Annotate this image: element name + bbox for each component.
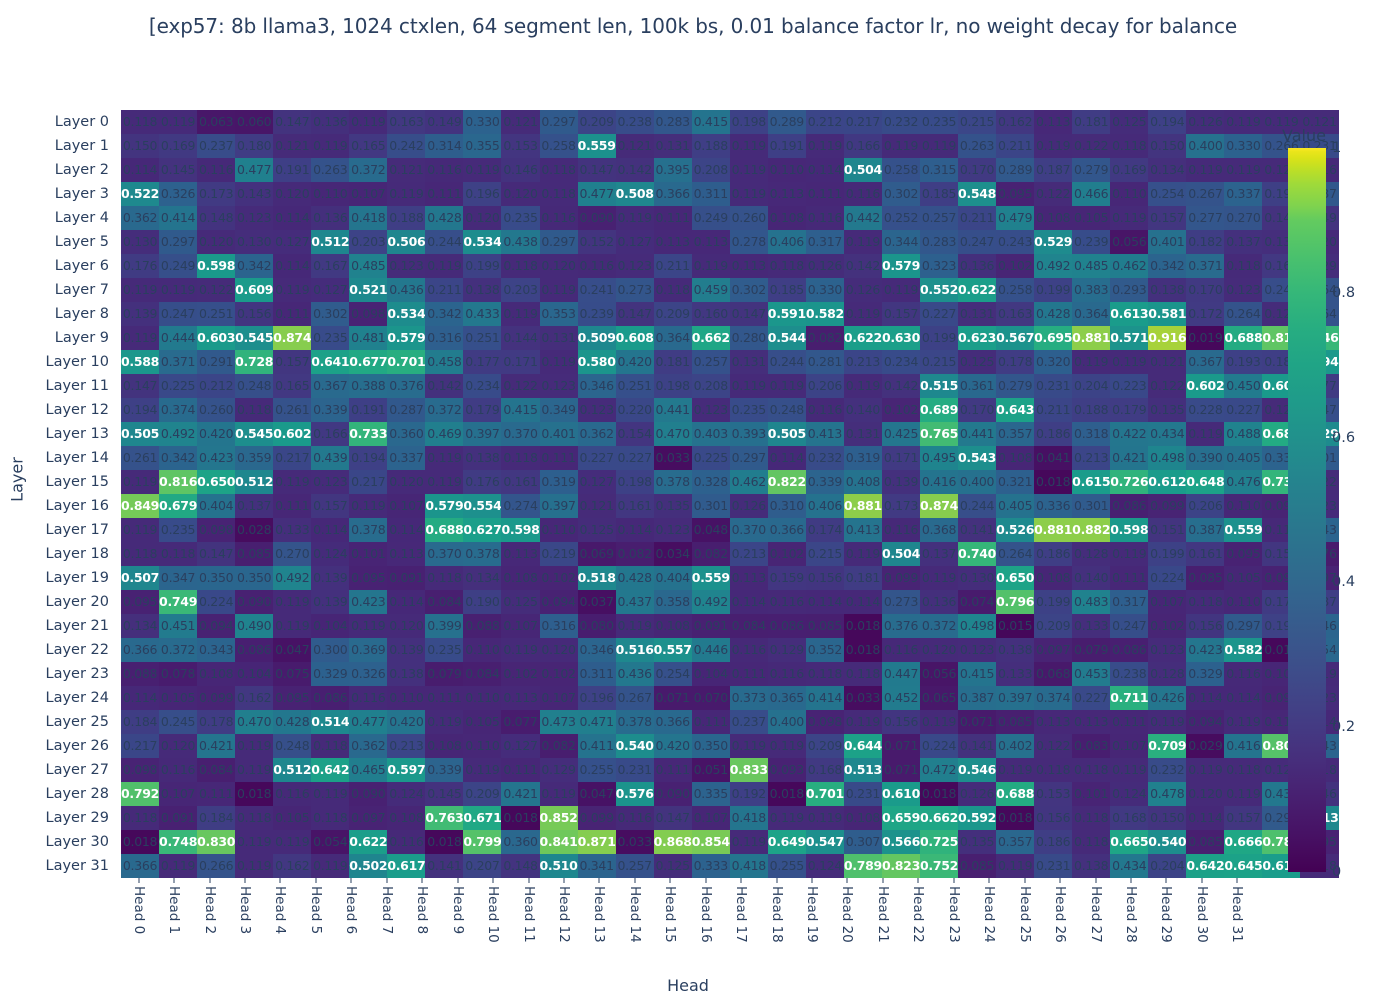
heatmap-cell[interactable]: 0.114	[1224, 686, 1262, 710]
heatmap-cell[interactable]: 0.173	[197, 182, 235, 206]
heatmap-cell[interactable]: 0.080	[578, 614, 616, 638]
heatmap-cell[interactable]: 0.689	[920, 398, 958, 422]
heatmap-cell[interactable]: 0.047	[273, 638, 311, 662]
heatmap-cell[interactable]: 0.111	[806, 182, 844, 206]
heatmap-cell[interactable]: 0.123	[958, 638, 996, 662]
heatmap-cell[interactable]: 0.034	[654, 542, 692, 566]
heatmap-cell[interactable]: 0.799	[463, 830, 501, 854]
heatmap-cell[interactable]: 0.161	[616, 494, 654, 518]
heatmap-cell[interactable]: 0.476	[1224, 470, 1262, 494]
heatmap-cell[interactable]: 0.213	[1072, 446, 1110, 470]
heatmap-cell[interactable]: 0.131	[654, 134, 692, 158]
heatmap-cell[interactable]: 0.188	[692, 134, 730, 158]
heatmap-cell[interactable]: 0.111	[692, 710, 730, 734]
heatmap-cell[interactable]: 0.485	[1072, 254, 1110, 278]
heatmap-cell[interactable]: 0.138	[463, 446, 501, 470]
heatmap-cell[interactable]: 0.378	[349, 518, 387, 542]
heatmap-cell[interactable]: 0.102	[501, 662, 539, 686]
heatmap-cell[interactable]: 0.752	[920, 854, 958, 878]
heatmap-cell[interactable]: 0.307	[844, 830, 882, 854]
heatmap-cell[interactable]: 0.126	[958, 782, 996, 806]
heatmap-cell[interactable]: 0.134	[463, 566, 501, 590]
heatmap-cell[interactable]: 0.215	[806, 542, 844, 566]
heatmap-cell[interactable]: 0.213	[387, 734, 425, 758]
heatmap-cell[interactable]: 0.277	[1186, 206, 1224, 230]
heatmap-cell[interactable]: 0.841	[540, 830, 578, 854]
heatmap-cell[interactable]: 0.166	[311, 422, 349, 446]
heatmap-cell[interactable]: 0.203	[501, 278, 539, 302]
heatmap-cell[interactable]: 0.119	[1224, 782, 1262, 806]
heatmap-cell[interactable]: 0.548	[958, 182, 996, 206]
heatmap-cell[interactable]: 0.270	[1224, 206, 1262, 230]
heatmap-cell[interactable]: 0.319	[540, 470, 578, 494]
heatmap-cell[interactable]: 0.123	[616, 254, 654, 278]
heatmap-cell[interactable]: 0.078	[159, 662, 197, 686]
heatmap-cell[interactable]: 0.018	[235, 782, 273, 806]
heatmap-cell[interactable]: 0.110	[1110, 182, 1148, 206]
heatmap-cell[interactable]: 0.341	[578, 854, 616, 878]
heatmap-cell[interactable]: 0.258	[882, 158, 920, 182]
heatmap-cell[interactable]: 0.695	[1034, 326, 1072, 350]
heatmap-cell[interactable]: 0.033	[654, 446, 692, 470]
heatmap-cell[interactable]: 0.116	[387, 830, 425, 854]
heatmap-cell[interactable]: 0.368	[920, 518, 958, 542]
heatmap-cell[interactable]: 0.114	[387, 590, 425, 614]
heatmap-cell[interactable]: 0.074	[958, 590, 996, 614]
heatmap-cell[interactable]: 0.028	[235, 518, 273, 542]
heatmap-cell[interactable]: 0.093	[768, 758, 806, 782]
heatmap-cell[interactable]: 0.630	[882, 326, 920, 350]
heatmap-cell[interactable]: 0.365	[768, 686, 806, 710]
heatmap-cell[interactable]: 0.364	[654, 326, 692, 350]
heatmap-cell[interactable]: 0.198	[730, 110, 768, 134]
heatmap-cell[interactable]: 0.110	[463, 686, 501, 710]
heatmap-cell[interactable]: 0.234	[463, 374, 501, 398]
heatmap-cell[interactable]: 0.559	[1224, 518, 1262, 542]
heatmap-cell[interactable]: 0.362	[578, 422, 616, 446]
heatmap-cell[interactable]: 0.387	[958, 686, 996, 710]
heatmap-cell[interactable]: 0.139	[387, 638, 425, 662]
heatmap-cell[interactable]: 0.191	[349, 398, 387, 422]
heatmap-cell[interactable]: 0.116	[882, 518, 920, 542]
heatmap-cell[interactable]: 0.119	[1186, 422, 1224, 446]
heatmap-cell[interactable]: 0.317	[1110, 590, 1148, 614]
heatmap-cell[interactable]: 0.420	[387, 710, 425, 734]
heatmap-cell[interactable]: 0.156	[235, 302, 273, 326]
heatmap-cell[interactable]: 0.171	[501, 350, 539, 374]
heatmap-cell[interactable]: 0.247	[159, 302, 197, 326]
heatmap-cell[interactable]: 0.748	[159, 830, 197, 854]
heatmap-cell[interactable]: 0.157	[273, 350, 311, 374]
heatmap-cell[interactable]: 0.243	[996, 230, 1034, 254]
heatmap-cell[interactable]: 0.688	[425, 518, 463, 542]
heatmap-cell[interactable]: 0.127	[578, 470, 616, 494]
heatmap-cell[interactable]: 0.116	[273, 782, 311, 806]
heatmap-cell[interactable]: 0.451	[159, 614, 197, 638]
heatmap-cell[interactable]: 0.330	[1224, 134, 1262, 158]
heatmap-cell[interactable]: 0.372	[349, 158, 387, 182]
heatmap-cell[interactable]: 0.505	[768, 422, 806, 446]
heatmap-cell[interactable]: 0.107	[349, 182, 387, 206]
heatmap-cell[interactable]: 0.349	[540, 398, 578, 422]
heatmap-cell[interactable]: 0.642	[311, 758, 349, 782]
heatmap-cell[interactable]: 0.414	[806, 686, 844, 710]
heatmap-cell[interactable]: 0.095	[1224, 542, 1262, 566]
heatmap-cell[interactable]: 0.102	[540, 566, 578, 590]
heatmap-cell[interactable]: 0.337	[387, 446, 425, 470]
heatmap-cell[interactable]: 0.244	[425, 230, 463, 254]
heatmap-cell[interactable]: 0.116	[197, 158, 235, 182]
heatmap-cell[interactable]: 0.297	[159, 230, 197, 254]
heatmap-cell[interactable]: 0.120	[197, 230, 235, 254]
heatmap-cell[interactable]: 0.071	[654, 686, 692, 710]
heatmap-cell[interactable]: 0.086	[235, 638, 273, 662]
heatmap-cell[interactable]: 0.623	[958, 326, 996, 350]
heatmap-cell[interactable]: 0.145	[159, 158, 197, 182]
heatmap-cell[interactable]: 0.153	[501, 134, 539, 158]
heatmap-cell[interactable]: 0.378	[463, 542, 501, 566]
heatmap-cell[interactable]: 0.559	[578, 134, 616, 158]
heatmap-cell[interactable]: 0.090	[235, 590, 273, 614]
heatmap-cell[interactable]: 0.249	[159, 254, 197, 278]
heatmap-cell[interactable]: 0.082	[540, 734, 578, 758]
heatmap-cell[interactable]: 0.361	[958, 374, 996, 398]
heatmap-cell[interactable]: 0.204	[1072, 374, 1110, 398]
heatmap-cell[interactable]: 0.105	[159, 686, 197, 710]
heatmap-cell[interactable]: 0.329	[311, 662, 349, 686]
heatmap-cell[interactable]: 0.169	[159, 134, 197, 158]
heatmap-cell[interactable]: 0.111	[1110, 566, 1148, 590]
heatmap-cell[interactable]: 0.119	[425, 254, 463, 278]
heatmap-cell[interactable]: 0.108	[654, 614, 692, 638]
heatmap-cell[interactable]: 0.881	[844, 494, 882, 518]
heatmap-cell[interactable]: 0.209	[654, 302, 692, 326]
heatmap-cell[interactable]: 0.126	[844, 278, 882, 302]
heatmap-cell[interactable]: 0.119	[425, 710, 463, 734]
heatmap-cell[interactable]: 0.099	[578, 806, 616, 830]
heatmap-cell[interactable]: 0.118	[1186, 590, 1224, 614]
heatmap-cell[interactable]: 0.126	[1186, 110, 1224, 134]
heatmap-cell[interactable]: 0.186	[1034, 422, 1072, 446]
heatmap-cell[interactable]: 0.170	[958, 158, 996, 182]
heatmap-cell[interactable]: 0.116	[768, 662, 806, 686]
heatmap-cell[interactable]: 0.215	[920, 350, 958, 374]
heatmap-cell[interactable]: 0.111	[425, 182, 463, 206]
heatmap-cell[interactable]: 0.094	[197, 614, 235, 638]
heatmap-cell[interactable]: 0.119	[273, 470, 311, 494]
heatmap-cell[interactable]: 0.406	[768, 230, 806, 254]
heatmap-cell[interactable]: 0.018	[768, 782, 806, 806]
heatmap-cell[interactable]: 0.135	[958, 830, 996, 854]
heatmap-cell[interactable]: 0.185	[768, 278, 806, 302]
heatmap-cell[interactable]: 0.622	[349, 830, 387, 854]
heatmap-cell[interactable]: 0.649	[768, 830, 806, 854]
heatmap-cell[interactable]: 0.150	[121, 134, 159, 158]
heatmap-cell[interactable]: 0.118	[654, 278, 692, 302]
heatmap-cell[interactable]: 0.136	[920, 590, 958, 614]
heatmap-cell[interactable]: 0.485	[349, 254, 387, 278]
heatmap-cell[interactable]: 0.114	[311, 518, 349, 542]
heatmap-cell[interactable]: 0.148	[197, 206, 235, 230]
heatmap-cell[interactable]: 0.119	[1186, 758, 1224, 782]
heatmap-cell[interactable]: 0.428	[273, 710, 311, 734]
heatmap-cell[interactable]: 0.428	[1034, 302, 1072, 326]
heatmap-cell[interactable]: 0.316	[425, 326, 463, 350]
heatmap-cell[interactable]: 0.641	[311, 350, 349, 374]
heatmap-cell[interactable]: 0.119	[768, 374, 806, 398]
heatmap-cell[interactable]: 0.830	[197, 830, 235, 854]
heatmap-cell[interactable]: 0.336	[1034, 494, 1072, 518]
heatmap-cell[interactable]: 0.116	[425, 158, 463, 182]
heatmap-cell[interactable]: 0.111	[540, 446, 578, 470]
heatmap-cell[interactable]: 0.102	[996, 254, 1034, 278]
heatmap-cell[interactable]: 0.545	[235, 326, 273, 350]
heatmap-cell[interactable]: 0.650	[197, 470, 235, 494]
heatmap-cell[interactable]: 0.184	[121, 710, 159, 734]
heatmap-cell[interactable]: 0.156	[806, 566, 844, 590]
heatmap-cell[interactable]: 0.237	[730, 710, 768, 734]
heatmap-cell[interactable]: 0.137	[920, 542, 958, 566]
heatmap-cell[interactable]: 0.160	[692, 302, 730, 326]
heatmap-cell[interactable]: 0.084	[425, 590, 463, 614]
heatmap-cell[interactable]: 0.119	[463, 158, 501, 182]
heatmap-cell[interactable]: 0.169	[1110, 158, 1148, 182]
heatmap-cell[interactable]: 0.546	[958, 758, 996, 782]
heatmap-cell[interactable]: 0.199	[463, 254, 501, 278]
heatmap-cell[interactable]: 0.120	[540, 254, 578, 278]
heatmap-cell[interactable]: 0.740	[958, 542, 996, 566]
heatmap-cell[interactable]: 0.208	[692, 374, 730, 398]
heatmap-cell[interactable]: 0.069	[578, 542, 616, 566]
heatmap-cell[interactable]: 0.199	[920, 326, 958, 350]
heatmap-cell[interactable]: 0.086	[311, 686, 349, 710]
heatmap-cell[interactable]: 0.321	[996, 470, 1034, 494]
heatmap-cell[interactable]: 0.339	[311, 398, 349, 422]
heatmap-cell[interactable]: 0.118	[806, 662, 844, 686]
heatmap-cell[interactable]: 0.323	[920, 254, 958, 278]
heatmap-cell[interactable]: 0.137	[1224, 230, 1262, 254]
heatmap-cell[interactable]: 0.279	[996, 374, 1034, 398]
heatmap-cell[interactable]: 0.617	[387, 854, 425, 878]
heatmap-cell[interactable]: 0.260	[197, 398, 235, 422]
heatmap-cell[interactable]: 0.224	[1148, 566, 1186, 590]
heatmap-cell[interactable]: 0.544	[768, 326, 806, 350]
heatmap-cell[interactable]: 0.437	[616, 590, 654, 614]
heatmap-cell[interactable]: 0.211	[654, 254, 692, 278]
heatmap-cell[interactable]: 0.163	[387, 110, 425, 134]
heatmap-cell[interactable]: 0.260	[730, 206, 768, 230]
heatmap-cell[interactable]: 0.209	[578, 110, 616, 134]
heatmap-cell[interactable]: 0.127	[311, 278, 349, 302]
heatmap-cell[interactable]: 0.118	[1072, 758, 1110, 782]
heatmap-cell[interactable]: 0.342	[425, 302, 463, 326]
heatmap-cell[interactable]: 0.107	[159, 782, 197, 806]
heatmap-cell[interactable]: 0.421	[1110, 446, 1148, 470]
heatmap-cell[interactable]: 0.434	[1110, 854, 1148, 878]
heatmap-cell[interactable]: 0.479	[996, 206, 1034, 230]
heatmap-cell[interactable]: 0.492	[273, 566, 311, 590]
heatmap-cell[interactable]: 0.159	[768, 566, 806, 590]
heatmap-cell[interactable]: 0.121	[387, 158, 425, 182]
heatmap-cell[interactable]: 0.239	[578, 302, 616, 326]
heatmap-cell[interactable]: 0.082	[692, 542, 730, 566]
heatmap-cell[interactable]: 0.506	[387, 230, 425, 254]
heatmap-cell[interactable]: 0.223	[1110, 374, 1148, 398]
heatmap-cell[interactable]: 0.235	[920, 110, 958, 134]
heatmap-cell[interactable]: 0.314	[425, 134, 463, 158]
heatmap-cell[interactable]: 0.071	[958, 710, 996, 734]
heatmap-cell[interactable]: 0.119	[540, 278, 578, 302]
heatmap-cell[interactable]: 0.446	[692, 638, 730, 662]
heatmap-cell[interactable]: 0.671	[463, 806, 501, 830]
heatmap-cell[interactable]: 0.238	[616, 110, 654, 134]
heatmap-cell[interactable]: 0.084	[730, 614, 768, 638]
heatmap-cell[interactable]: 0.194	[1148, 110, 1186, 134]
heatmap-cell[interactable]: 0.543	[958, 446, 996, 470]
heatmap-cell[interactable]: 0.235	[730, 398, 768, 422]
heatmap-cell[interactable]: 0.124	[806, 854, 844, 878]
heatmap-cell[interactable]: 0.119	[1224, 110, 1262, 134]
heatmap-cell[interactable]: 0.515	[920, 374, 958, 398]
heatmap-cell[interactable]: 0.071	[882, 758, 920, 782]
heatmap-cell[interactable]: 0.118	[1072, 806, 1110, 830]
heatmap-cell[interactable]: 0.231	[1034, 374, 1072, 398]
heatmap-cell[interactable]: 0.328	[692, 470, 730, 494]
heatmap-cell[interactable]: 0.358	[654, 590, 692, 614]
heatmap-cell[interactable]: 0.374	[159, 398, 197, 422]
heatmap-cell[interactable]: 0.108	[996, 446, 1034, 470]
heatmap-cell[interactable]: 0.261	[273, 398, 311, 422]
heatmap-cell[interactable]: 0.056	[920, 662, 958, 686]
heatmap-cell[interactable]: 0.119	[540, 782, 578, 806]
heatmap-cell[interactable]: 0.142	[882, 374, 920, 398]
heatmap-cell[interactable]: 0.337	[1224, 182, 1262, 206]
heatmap-cell[interactable]: 0.393	[730, 422, 768, 446]
heatmap-cell[interactable]: 0.227	[1072, 686, 1110, 710]
heatmap-cell[interactable]: 0.119	[730, 374, 768, 398]
heatmap-cell[interactable]: 0.293	[1110, 278, 1148, 302]
heatmap-cell[interactable]: 0.512	[235, 470, 273, 494]
heatmap-cell[interactable]: 0.135	[1148, 398, 1186, 422]
heatmap-cell[interactable]: 0.131	[730, 350, 768, 374]
heatmap-cell[interactable]: 0.119	[920, 566, 958, 590]
heatmap-cell[interactable]: 0.085	[1186, 830, 1224, 854]
heatmap-cell[interactable]: 0.098	[121, 758, 159, 782]
heatmap-cell[interactable]: 0.582	[1224, 638, 1262, 662]
heatmap-cell[interactable]: 0.319	[844, 446, 882, 470]
heatmap-cell[interactable]: 0.181	[1072, 110, 1110, 134]
heatmap-cell[interactable]: 0.266	[197, 854, 235, 878]
heatmap-cell[interactable]: 0.123	[540, 374, 578, 398]
heatmap-cell[interactable]: 0.521	[349, 278, 387, 302]
heatmap-cell[interactable]: 0.088	[463, 614, 501, 638]
heatmap-cell[interactable]: 0.505	[121, 422, 159, 446]
heatmap-cell[interactable]: 0.119	[844, 710, 882, 734]
heatmap-cell[interactable]: 0.665	[1110, 830, 1148, 854]
heatmap-cell[interactable]: 0.789	[844, 854, 882, 878]
heatmap-cell[interactable]: 0.116	[806, 398, 844, 422]
heatmap-cell[interactable]: 0.339	[425, 758, 463, 782]
heatmap-cell[interactable]: 0.119	[616, 206, 654, 230]
heatmap-cell[interactable]: 0.289	[768, 110, 806, 134]
heatmap-cell[interactable]: 0.119	[121, 326, 159, 350]
heatmap-cell[interactable]: 0.378	[616, 710, 654, 734]
heatmap-cell[interactable]: 0.118	[501, 446, 539, 470]
heatmap-cell[interactable]: 0.540	[616, 734, 654, 758]
heatmap-cell[interactable]: 0.120	[273, 182, 311, 206]
heatmap-cell[interactable]: 0.136	[311, 110, 349, 134]
heatmap-cell[interactable]: 0.420	[654, 734, 692, 758]
heatmap-cell[interactable]: 0.134	[121, 614, 159, 638]
heatmap-cell[interactable]: 0.418	[349, 206, 387, 230]
heatmap-cell[interactable]: 0.397	[463, 422, 501, 446]
heatmap-cell[interactable]: 0.400	[1186, 134, 1224, 158]
heatmap-cell[interactable]: 0.126	[806, 254, 844, 278]
heatmap-cell[interactable]: 0.366	[654, 710, 692, 734]
heatmap-cell[interactable]: 0.127	[501, 734, 539, 758]
heatmap-cell[interactable]: 0.119	[692, 254, 730, 278]
heatmap-cell[interactable]: 0.147	[654, 806, 692, 830]
heatmap-cell[interactable]: 0.534	[463, 230, 501, 254]
heatmap-cell[interactable]: 0.346	[578, 374, 616, 398]
heatmap-cell[interactable]: 0.114	[616, 518, 654, 542]
heatmap-cell[interactable]: 0.161	[501, 470, 539, 494]
heatmap-cell[interactable]: 0.469	[425, 422, 463, 446]
heatmap-cell[interactable]: 0.119	[730, 134, 768, 158]
heatmap-cell[interactable]: 0.118	[159, 542, 197, 566]
heatmap-cell[interactable]: 0.534	[387, 302, 425, 326]
heatmap-cell[interactable]: 0.085	[806, 614, 844, 638]
heatmap-cell[interactable]: 0.165	[273, 374, 311, 398]
heatmap-cell[interactable]: 0.597	[387, 758, 425, 782]
heatmap-cell[interactable]: 0.198	[616, 470, 654, 494]
heatmap-cell[interactable]: 0.107	[540, 686, 578, 710]
heatmap-cell[interactable]: 0.352	[806, 638, 844, 662]
heatmap-cell[interactable]: 0.434	[1148, 422, 1186, 446]
heatmap-cell[interactable]: 0.518	[578, 566, 616, 590]
heatmap-cell[interactable]: 0.018	[425, 830, 463, 854]
heatmap-cell[interactable]: 0.084	[463, 662, 501, 686]
heatmap-cell[interactable]: 0.110	[540, 518, 578, 542]
heatmap-cell[interactable]: 0.178	[197, 710, 235, 734]
heatmap-cell[interactable]: 0.509	[578, 326, 616, 350]
heatmap-cell[interactable]: 0.118	[311, 734, 349, 758]
heatmap-cell[interactable]: 0.852	[540, 806, 578, 830]
heatmap-cell[interactable]: 0.270	[273, 542, 311, 566]
heatmap-cell[interactable]: 0.142	[616, 158, 654, 182]
heatmap-cell[interactable]: 0.360	[387, 422, 425, 446]
heatmap-cell[interactable]: 0.179	[1110, 398, 1148, 422]
heatmap-cell[interactable]: 0.342	[159, 446, 197, 470]
heatmap-cell[interactable]: 0.018	[996, 806, 1034, 830]
heatmap-cell[interactable]: 0.387	[1186, 518, 1224, 542]
heatmap-cell[interactable]: 0.079	[425, 662, 463, 686]
heatmap-cell[interactable]: 0.165	[349, 134, 387, 158]
heatmap-cell[interactable]: 0.206	[1186, 494, 1224, 518]
heatmap-cell[interactable]: 0.677	[349, 350, 387, 374]
heatmap-cell[interactable]: 0.576	[616, 782, 654, 806]
heatmap-cell[interactable]: 0.162	[235, 686, 273, 710]
heatmap-cell[interactable]: 0.581	[1148, 302, 1186, 326]
heatmap-cell[interactable]: 0.111	[654, 758, 692, 782]
heatmap-cell[interactable]: 0.662	[920, 806, 958, 830]
heatmap-cell[interactable]: 0.248	[273, 734, 311, 758]
heatmap-cell[interactable]: 0.018	[501, 806, 539, 830]
heatmap-cell[interactable]: 0.510	[540, 854, 578, 878]
heatmap-cell[interactable]: 0.120	[159, 734, 197, 758]
heatmap-cell[interactable]: 0.105	[1072, 206, 1110, 230]
heatmap-cell[interactable]: 0.224	[197, 590, 235, 614]
